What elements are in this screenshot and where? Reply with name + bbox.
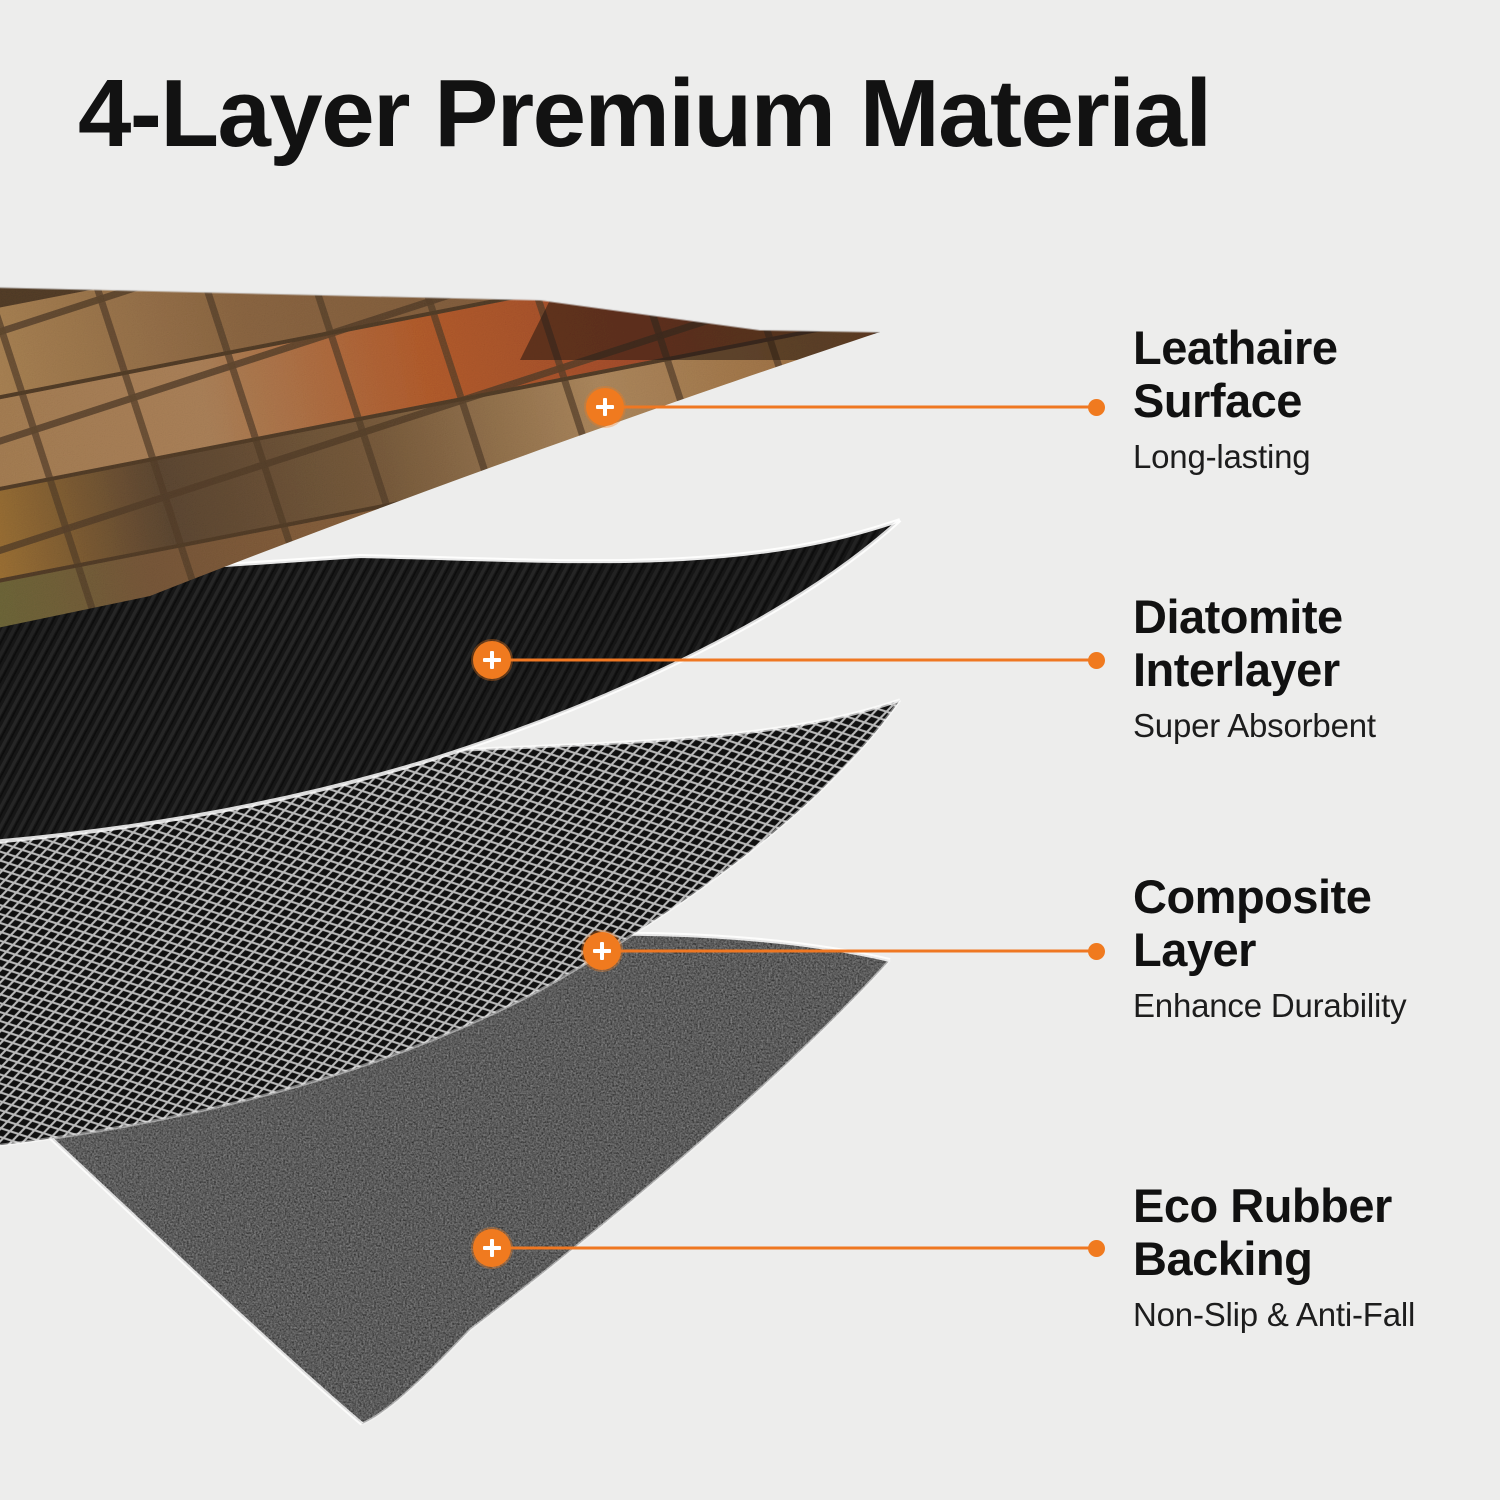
callout-enddot-layer-2	[1088, 652, 1105, 669]
layer-subtitle: Enhance Durability	[1133, 986, 1500, 1026]
callout-marker-plus-icon-layer-3[interactable]	[583, 932, 621, 970]
layer-title-line1: Composite	[1133, 871, 1500, 924]
layer-subtitle: Long-lasting	[1133, 437, 1500, 477]
callout-enddot-layer-3	[1088, 943, 1105, 960]
layer-title-line1: Leathaire	[1133, 322, 1500, 375]
layer-label-eco-rubber-backing: Eco Rubber Backing Non-Slip & Anti-Fall	[1133, 1180, 1500, 1335]
layer-label-composite-layer: Composite Layer Enhance Durability	[1133, 871, 1500, 1026]
callout-enddot-layer-1	[1088, 399, 1105, 416]
layer-title-line2: Surface	[1133, 375, 1500, 428]
infographic-canvas: 4-Layer Premium Material	[0, 0, 1500, 1500]
callout-marker-plus-icon-layer-2[interactable]	[473, 641, 511, 679]
layer-title-line1: Diatomite	[1133, 591, 1500, 644]
layer-title-line2: Backing	[1133, 1233, 1500, 1286]
layer-title-line2: Interlayer	[1133, 644, 1500, 697]
callout-marker-plus-icon-layer-1[interactable]	[586, 388, 624, 426]
layer-title-line2: Layer	[1133, 924, 1500, 977]
layer-subtitle: Non-Slip & Anti-Fall	[1133, 1295, 1500, 1335]
layer-subtitle: Super Absorbent	[1133, 706, 1500, 746]
callout-enddot-layer-4	[1088, 1240, 1105, 1257]
callout-marker-plus-icon-layer-4[interactable]	[473, 1229, 511, 1267]
layer-label-diatomite-interlayer: Diatomite Interlayer Super Absorbent	[1133, 591, 1500, 746]
layer-title-line1: Eco Rubber	[1133, 1180, 1500, 1233]
layer-label-leathaire-surface: Leathaire Surface Long-lasting	[1133, 322, 1500, 477]
